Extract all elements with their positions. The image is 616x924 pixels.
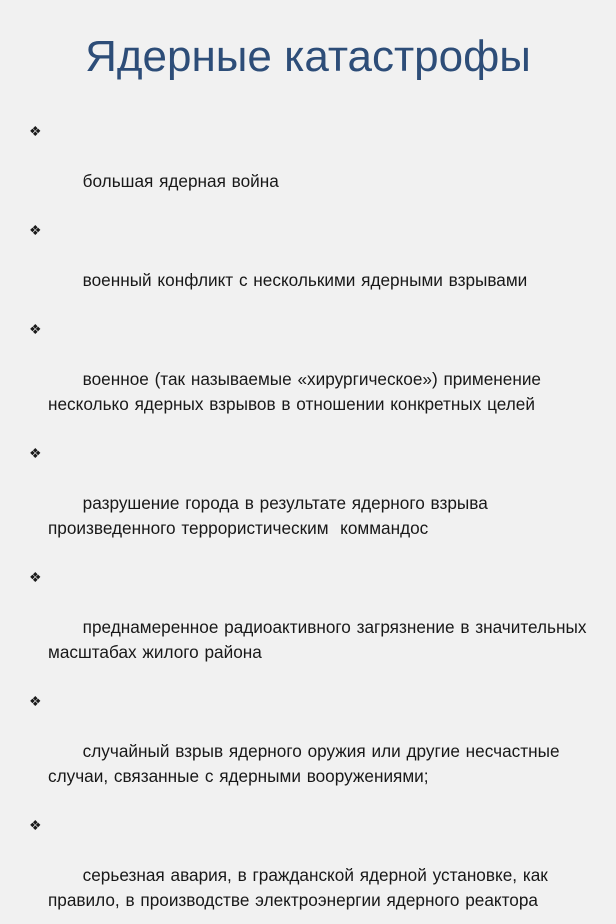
list-item: ❖ преднамеренное радиоактивного загрязне…: [29, 565, 606, 689]
list-item: ❖ случайный взрыв ядерного оружия или др…: [29, 689, 606, 813]
page-title: Ядерные катастрофы: [0, 29, 616, 83]
diamond-bullet-icon: ❖: [29, 813, 42, 838]
diamond-bullet-icon: ❖: [29, 119, 42, 144]
list-item-text: случайный взрыв ядерного оружия или друг…: [48, 741, 565, 786]
list-item: ❖ разрушение города в результате ядерног…: [29, 441, 606, 565]
diamond-bullet-icon: ❖: [29, 218, 42, 243]
bullet-list: ❖ большая ядерная война ❖ военный конфли…: [0, 113, 616, 924]
list-item-text: разрушение города в результате ядерного …: [48, 493, 494, 538]
slide-canvas: Ядерные катастрофы ❖ большая ядерная вой…: [0, 29, 616, 491]
list-item-text: военный конфликт с несколькими ядерными …: [83, 270, 528, 290]
list-item-text: большая ядерная война: [83, 171, 279, 191]
list-item-text: серьезная авария, в гражданской ядерной …: [48, 865, 554, 910]
diamond-bullet-icon: ❖: [29, 441, 42, 466]
list-item: ❖ военный конфликт с несколькими ядерным…: [29, 218, 606, 317]
list-item: ❖ серьезная авария, в гражданской ядерно…: [29, 813, 606, 924]
diamond-bullet-icon: ❖: [29, 317, 42, 342]
diamond-bullet-icon: ❖: [29, 689, 42, 714]
list-item: ❖ большая ядерная война: [29, 119, 606, 218]
diamond-bullet-icon: ❖: [29, 565, 42, 590]
list-item-text: преднамеренное радиоактивного загрязнени…: [48, 617, 592, 662]
list-item-text: военное (так называемые «хирургическое»)…: [48, 369, 547, 414]
list-item: ❖ военное (так называемые «хирургическое…: [29, 317, 606, 441]
